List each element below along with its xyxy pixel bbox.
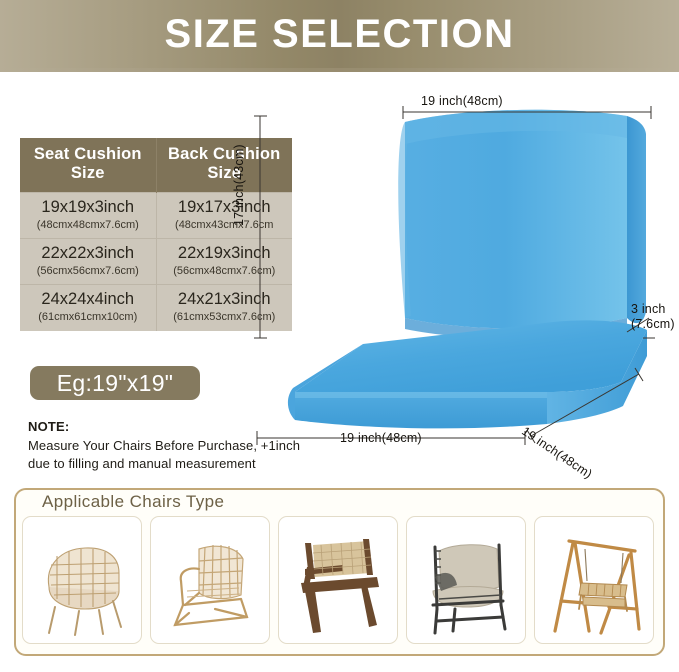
seat-cushion-shape	[288, 320, 647, 428]
chair-thumbnail-strip	[22, 516, 658, 648]
header-underline	[0, 68, 679, 72]
example-size-badge: Eg:19"x19"	[30, 366, 200, 400]
seat-size-cm: (56cmx56cmx7.6cm)	[22, 264, 154, 278]
cell-seat-size: 19x19x3inch (48cmx48cmx7.6cm)	[20, 192, 156, 238]
cell-seat-size: 22x22x3inch (56cmx56cmx7.6cm)	[20, 239, 156, 285]
seat-size-inch: 19x19x3inch	[22, 198, 154, 217]
seat-size-cm: (48cmx48cmx7.6cm)	[22, 218, 154, 232]
chair-thumbnail-rattan-lounge-chair	[150, 516, 270, 644]
rattan-lounge-chair-icon	[155, 521, 265, 639]
back-cushion-shape	[398, 110, 646, 339]
seat-size-inch: 22x22x3inch	[22, 244, 154, 263]
page-title: SIZE SELECTION	[0, 0, 679, 68]
wooden-porch-swing-icon	[539, 521, 649, 639]
cushion-illustration	[235, 86, 679, 476]
cell-seat-size: 24x24x4inch (61cmx61cmx10cm)	[20, 285, 156, 331]
rattan-tub-armchair-icon	[27, 521, 137, 639]
seat-size-inch: 24x24x4inch	[22, 290, 154, 309]
dimension-back-height: 17 inch(43cm)	[232, 144, 246, 226]
applicable-chairs-heading: Applicable Chairs Type	[36, 492, 230, 512]
dimension-thickness-inch: 3 inch	[631, 302, 675, 317]
seat-size-cm: (61cmx61cmx10cm)	[22, 310, 154, 324]
metal-frame-cushion-sofa-icon	[411, 521, 521, 639]
chair-thumbnail-wooden-cane-armchair	[278, 516, 398, 644]
dimension-thickness-cm: (7.6cm)	[631, 317, 675, 332]
wooden-cane-armchair-icon	[283, 521, 393, 639]
dimension-thickness: 3 inch (7.6cm)	[631, 302, 675, 332]
chair-thumbnail-rattan-tub-armchair	[22, 516, 142, 644]
chair-thumbnail-wooden-porch-swing	[534, 516, 654, 644]
dimension-seat-width: 19 inch(48cm)	[340, 431, 422, 445]
dimension-back-width: 19 inch(48cm)	[421, 94, 503, 108]
cushion-diagram: 19 inch(48cm) 17 inch(43cm) 3 inch (7.6c…	[235, 86, 679, 476]
chair-thumbnail-metal-frame-cushion-sofa	[406, 516, 526, 644]
column-header-seat-cushion-size: Seat Cushion Size	[20, 138, 156, 192]
